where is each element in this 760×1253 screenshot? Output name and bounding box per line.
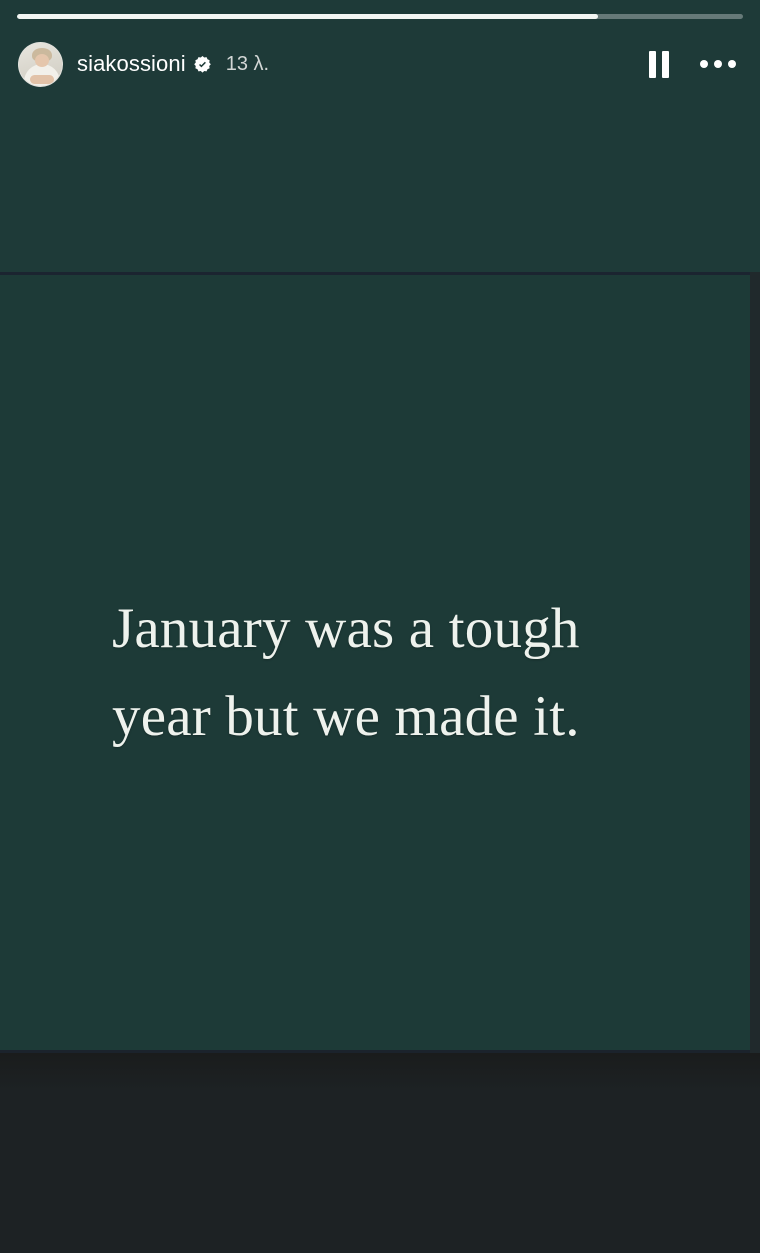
more-options-icon[interactable] [700, 50, 736, 78]
more-dot-2 [714, 60, 722, 68]
verified-badge-icon [193, 55, 212, 74]
username-label[interactable]: siakossioni [77, 51, 186, 77]
more-dot-1 [700, 60, 708, 68]
timestamp-label: 13 λ. [226, 53, 269, 76]
story-text-block: January was a tough year but we made it. [112, 585, 672, 761]
progress-fill [17, 14, 598, 19]
pause-bar-right [662, 51, 669, 78]
pause-icon[interactable] [646, 50, 672, 78]
pause-bar-left [649, 51, 656, 78]
more-dot-3 [728, 60, 736, 68]
story-header: siakossioni 13 λ. [0, 36, 760, 92]
story-viewer-screen: January was a tough year but we made it.… [0, 0, 760, 1253]
progress-track[interactable] [17, 14, 743, 19]
avatar-face-shape [35, 54, 49, 67]
story-progress-bar[interactable] [17, 14, 743, 19]
right-gutter [750, 272, 760, 1053]
story-text-line-2: year but we made it. [112, 673, 672, 761]
story-text-line-1: January was a tough [112, 585, 672, 673]
story-media-card[interactable]: January was a tough year but we made it. [0, 272, 750, 1053]
bottom-chrome-area [0, 1053, 760, 1253]
avatar-arm-shape [30, 75, 54, 84]
avatar[interactable] [18, 42, 63, 87]
